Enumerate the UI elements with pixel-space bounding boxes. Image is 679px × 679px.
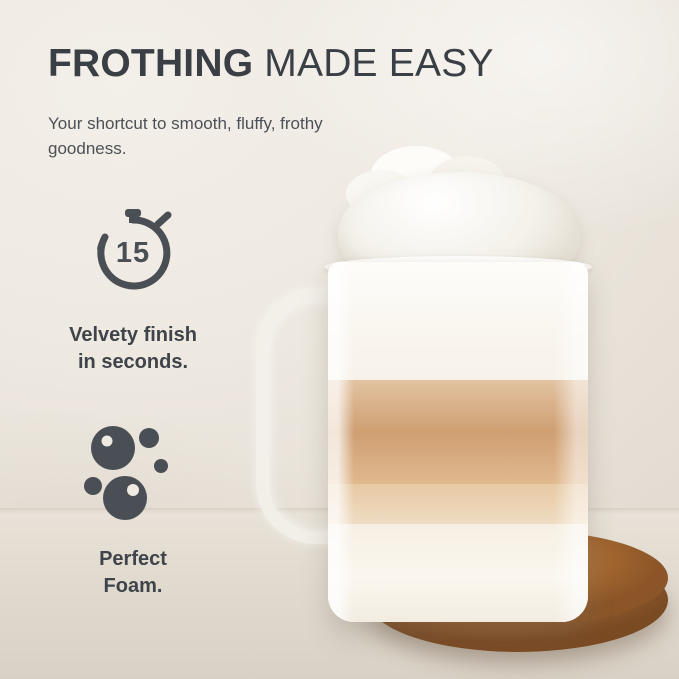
- layer-coffee-light: [328, 484, 588, 524]
- timer-value: 15: [80, 200, 186, 306]
- headline-light: MADE EASY: [264, 42, 493, 85]
- product-infographic: FROTHING MADE EASY Your shortcut to smoo…: [0, 0, 679, 679]
- stopwatch-icon: 15: [80, 200, 186, 306]
- headline-bold: FROTHING: [48, 42, 253, 85]
- layer-milk: [328, 524, 588, 622]
- foam-bubbles-icon: [73, 420, 193, 532]
- page-title: FROTHING MADE EASY: [48, 44, 494, 85]
- subheadline: Your shortcut to smooth, fluffy, frothy …: [48, 112, 378, 161]
- feature-velvety-finish: 15 Velvety finish in seconds.: [40, 200, 226, 376]
- feature-caption: Perfect Foam.: [40, 546, 226, 600]
- product-photo: [250, 230, 650, 660]
- glass-mug: [328, 262, 588, 622]
- layer-coffee-top: [328, 380, 588, 432]
- layer-foam: [328, 262, 588, 380]
- layer-coffee-mid: [328, 432, 588, 484]
- feature-perfect-foam: Perfect Foam.: [40, 420, 226, 600]
- feature-caption: Velvety finish in seconds.: [40, 322, 226, 376]
